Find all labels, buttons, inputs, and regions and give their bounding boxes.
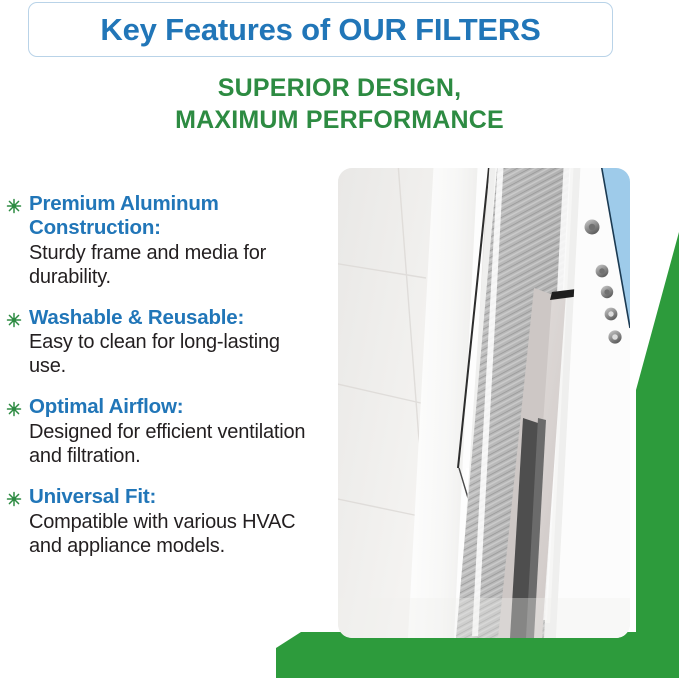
page-subtitle-line-2: MAXIMUM PERFORMANCE	[0, 104, 679, 136]
product-photo	[338, 168, 630, 638]
green-asterisk-icon	[6, 401, 22, 417]
feature-body: Sturdy frame and media for durability.	[29, 241, 322, 289]
feature-list: Premium Aluminum Construction: Sturdy fr…	[4, 192, 322, 558]
feature-heading: Washable & Reusable:	[29, 306, 244, 329]
page-title-box: Key Features of OUR FILTERS	[28, 2, 613, 57]
feature-heading: Premium Aluminum Construction:	[29, 192, 219, 239]
list-item: Washable & Reusable: Easy to clean for l…	[4, 306, 322, 379]
green-asterisk-icon	[6, 491, 22, 507]
page-subtitle: SUPERIOR DESIGN, MAXIMUM PERFORMANCE	[0, 72, 679, 136]
list-item: Premium Aluminum Construction: Sturdy fr…	[4, 192, 322, 289]
page-subtitle-line-1: SUPERIOR DESIGN,	[0, 72, 679, 104]
green-asterisk-icon	[6, 312, 22, 328]
list-item: Universal Fit: Compatible with various H…	[4, 485, 322, 558]
green-asterisk-icon	[6, 198, 22, 214]
feature-body: Easy to clean for long-lasting use.	[29, 330, 322, 378]
page-title: Key Features of OUR FILTERS	[100, 14, 540, 45]
feature-heading: Optimal Airflow:	[29, 395, 183, 418]
feature-body: Compatible with various HVAC and applian…	[29, 510, 322, 558]
list-item: Optimal Airflow: Designed for efficient …	[4, 395, 322, 468]
page-title-heavy: OUR FILTERS	[338, 12, 540, 47]
page-title-light: Key Features of	[100, 12, 338, 47]
feature-heading: Universal Fit:	[29, 485, 156, 508]
feature-body: Designed for efficient ventilation and f…	[29, 420, 322, 468]
